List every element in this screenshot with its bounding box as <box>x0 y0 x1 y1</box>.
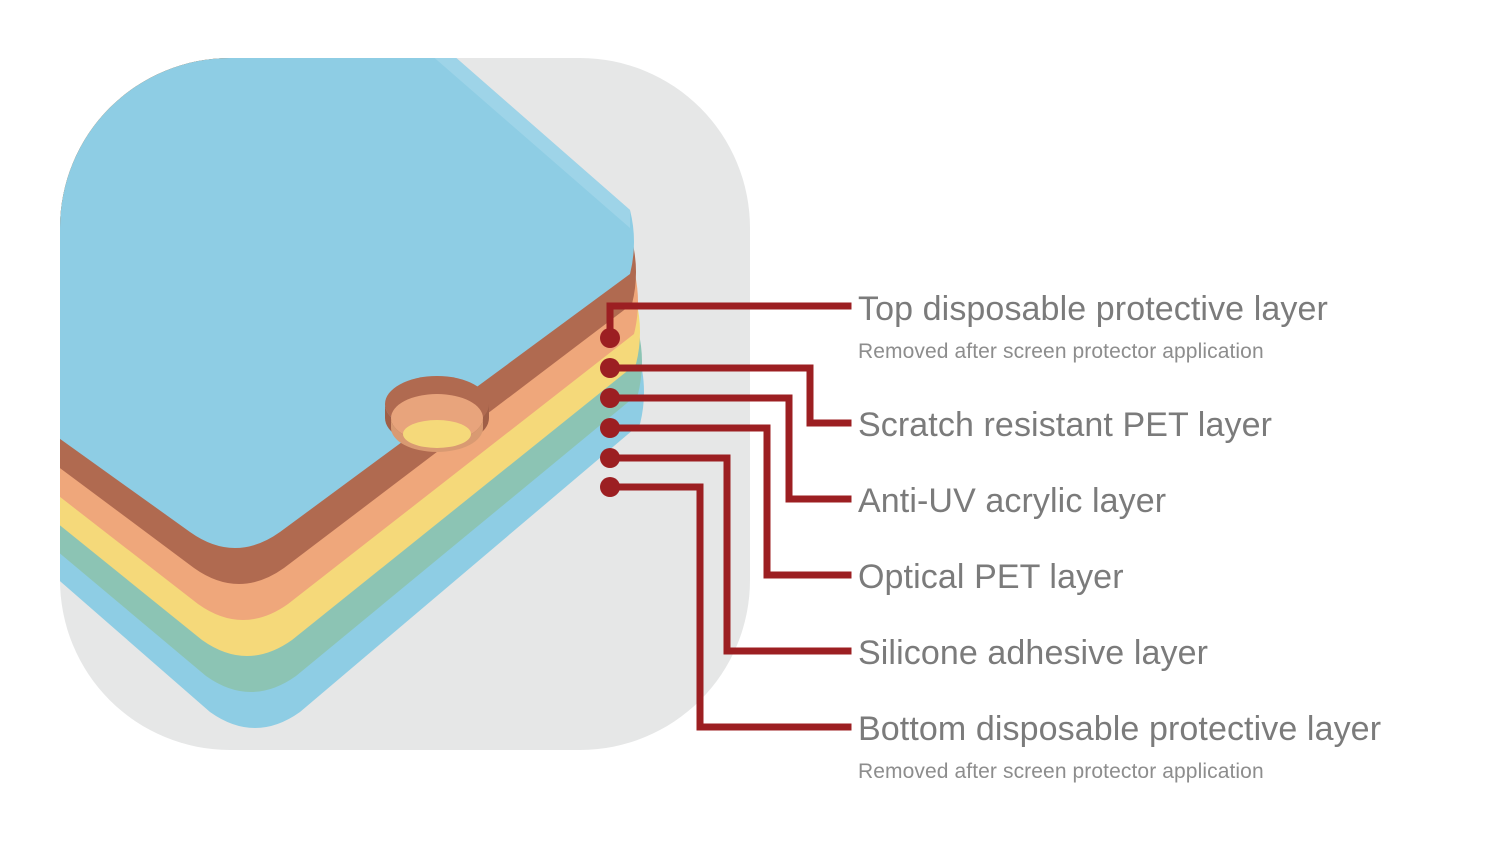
callout-label-bottom-disposable: Bottom disposable protective layer <box>858 712 1381 746</box>
leader-dot-anti-uv-acrylic <box>600 388 620 408</box>
camera-cutout-icon <box>385 376 489 452</box>
callout-sublabel-top-disposable: Removed after screen protector applicati… <box>858 341 1264 362</box>
callout-label-silicone-adhesive: Silicone adhesive layer <box>858 636 1208 670</box>
callout-label-optical-pet: Optical PET layer <box>858 560 1124 594</box>
leader-dot-optical-pet <box>600 418 620 438</box>
callout-label-scratch-pet: Scratch resistant PET layer <box>858 408 1272 442</box>
callout-sublabel-bottom-disposable: Removed after screen protector applicati… <box>858 761 1264 782</box>
diagram-canvas: Top disposable protective layer Removed … <box>0 0 1497 850</box>
leader-dot-top-disposable <box>600 328 620 348</box>
leader-dot-bottom-disposable <box>600 477 620 497</box>
leader-dot-silicone-adhesive <box>600 448 620 468</box>
callout-label-anti-uv-acrylic: Anti-UV acrylic layer <box>858 484 1166 518</box>
leader-dot-scratch-pet <box>600 358 620 378</box>
callout-label-top-disposable: Top disposable protective layer <box>858 292 1328 326</box>
